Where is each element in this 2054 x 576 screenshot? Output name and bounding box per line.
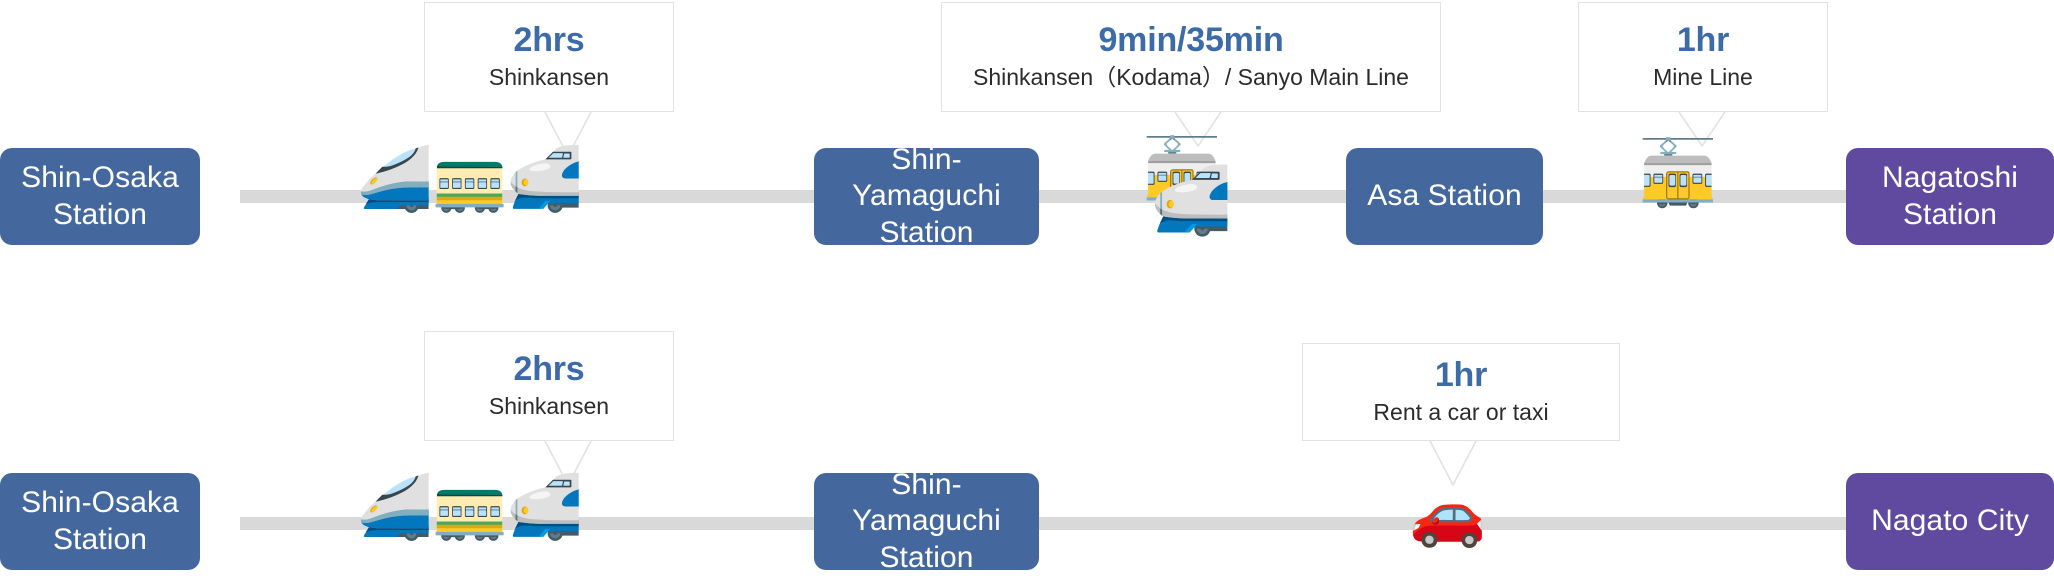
callout-mode: Rent a car or taxi: [1373, 398, 1548, 427]
station-box-shin-osaka-station-2[interactable]: Shin-Osaka Station: [0, 473, 200, 570]
callout-leg-shinkansen-osaka-yamaguchi-2: 2hrsShinkansen: [424, 331, 674, 441]
station-label: Shin-Yamaguchi Station: [824, 467, 1029, 576]
route-via-car: Shin-Osaka StationShin-Yamaguchi Station…: [0, 0, 2054, 572]
callout-leg-rent-a-car: 1hrRent a car or taxi: [1302, 343, 1620, 441]
station-box-shin-yamaguchi-station-2[interactable]: Shin-Yamaguchi Station: [814, 473, 1039, 570]
callout-mode: Shinkansen: [489, 392, 609, 421]
station-label: Nagato City: [1871, 503, 2029, 540]
callout-duration: 2hrs: [513, 349, 584, 389]
shinkansen-icon: 🚄🚃🚅: [356, 476, 582, 538]
station-box-nagato-city[interactable]: Nagato City: [1846, 473, 2054, 570]
station-label: Shin-Osaka Station: [21, 485, 179, 558]
callout-duration: 1hr: [1435, 355, 1487, 395]
car-icon: 🚗: [1409, 483, 1486, 545]
